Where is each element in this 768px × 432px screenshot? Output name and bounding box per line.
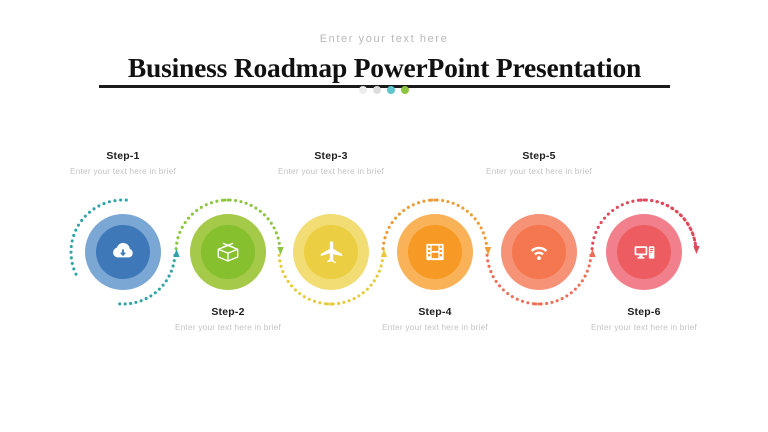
roadmap-node-5[interactable] bbox=[501, 214, 577, 290]
roadmap-node-2[interactable] bbox=[190, 214, 266, 290]
step-title-4: Step-4 bbox=[335, 305, 535, 319]
roadmap-node-inner-2 bbox=[201, 225, 255, 279]
step-title-6: Step-6 bbox=[544, 305, 744, 319]
roadmap-node-1[interactable] bbox=[85, 214, 161, 290]
roadmap-label-2: Step-2Enter your text here in brief bbox=[128, 305, 328, 335]
roadmap-label-3: Step-3Enter your text here in brief bbox=[231, 149, 431, 179]
step-description-4: Enter your text here in brief bbox=[335, 321, 535, 335]
step-title-1: Step-1 bbox=[23, 149, 223, 163]
step-description-5: Enter your text here in brief bbox=[439, 165, 639, 179]
step-title-5: Step-5 bbox=[439, 149, 639, 163]
step-title-3: Step-3 bbox=[231, 149, 431, 163]
step-title-2: Step-2 bbox=[128, 305, 328, 319]
roadmap-node-inner-6 bbox=[617, 225, 671, 279]
step-description-2: Enter your text here in brief bbox=[128, 321, 328, 335]
airplane-icon bbox=[318, 239, 345, 266]
roadmap-node-6[interactable] bbox=[606, 214, 682, 290]
roadmap-label-4: Step-4Enter your text here in brief bbox=[335, 305, 535, 335]
film-strip-icon bbox=[422, 239, 448, 265]
roadmap-node-3[interactable] bbox=[293, 214, 369, 290]
step-description-3: Enter your text here in brief bbox=[231, 165, 431, 179]
roadmap-label-6: Step-6Enter your text here in brief bbox=[544, 305, 744, 335]
roadmap-node-inner-3 bbox=[304, 225, 358, 279]
connector-arrow-end bbox=[693, 246, 699, 254]
connector-arrow-2 bbox=[277, 247, 283, 255]
roadmap-node-4[interactable] bbox=[397, 214, 473, 290]
roadmap-node-inner-4 bbox=[408, 225, 462, 279]
step-description-1: Enter your text here in brief bbox=[23, 165, 223, 179]
step-description-6: Enter your text here in brief bbox=[544, 321, 744, 335]
connector-arrow-3 bbox=[381, 249, 387, 257]
connector-arrow-4 bbox=[485, 247, 491, 255]
slide-canvas: Enter your text here Business Roadmap Po… bbox=[0, 0, 768, 432]
connector-arrow-5 bbox=[589, 249, 595, 257]
connector-arrow-1 bbox=[173, 249, 179, 257]
roadmap-node-inner-1 bbox=[96, 225, 150, 279]
desktop-computer-icon bbox=[631, 239, 658, 266]
roadmap-diagram: Step-1Enter your text here in briefStep-… bbox=[0, 0, 768, 432]
roadmap-label-1: Step-1Enter your text here in brief bbox=[23, 149, 223, 179]
wifi-icon bbox=[526, 239, 552, 265]
roadmap-node-inner-5 bbox=[512, 225, 566, 279]
cloud-download-icon bbox=[110, 239, 136, 265]
roadmap-label-5: Step-5Enter your text here in brief bbox=[439, 149, 639, 179]
package-box-icon bbox=[214, 238, 242, 266]
